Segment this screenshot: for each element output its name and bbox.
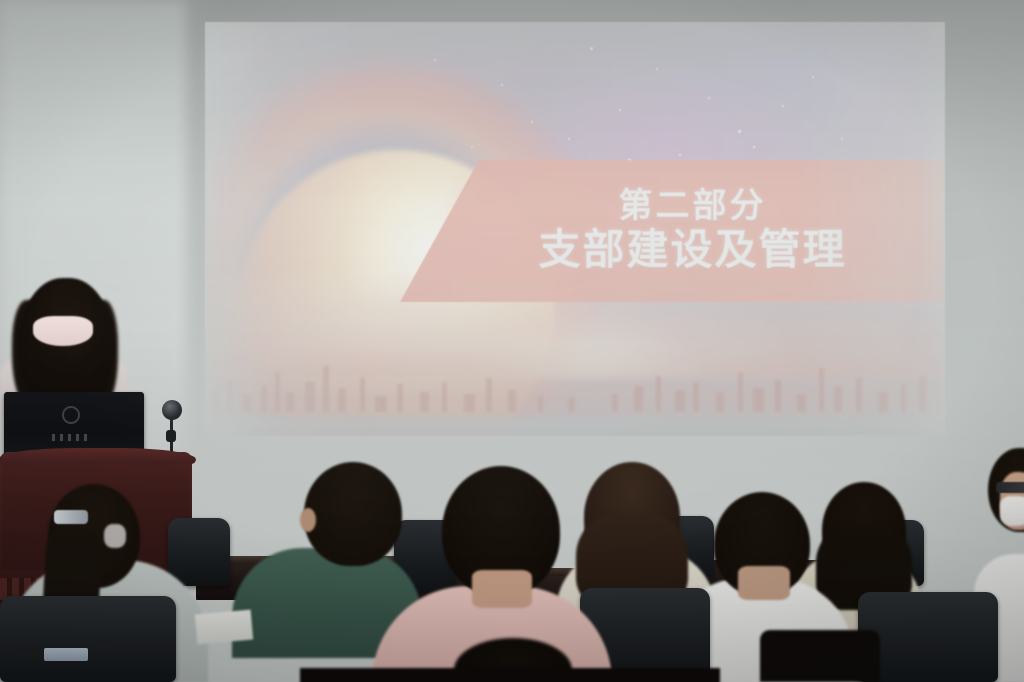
audience-head: [304, 462, 402, 566]
projected-slide: 第二部分 支部建设及管理: [205, 22, 945, 436]
city-skyline-silhouette: [205, 348, 945, 420]
presenter-face-mask: [33, 316, 93, 346]
foreground-dark-bar: [760, 630, 880, 682]
chair: [0, 596, 176, 682]
presentation-photo: 第二部分 支部建设及管理: [0, 0, 1024, 682]
podium-top-edge: [0, 448, 196, 464]
hair-clip-icon: [54, 510, 88, 524]
dell-logo-icon: [62, 406, 80, 424]
microphone-icon: [162, 400, 182, 420]
handout-papers: [195, 610, 253, 645]
foreground-body: [300, 668, 720, 682]
monitor-indicator-lights: [52, 434, 92, 441]
audience-ear: [300, 508, 316, 532]
audience-neck: [472, 570, 532, 608]
eyeglasses-icon: [996, 482, 1024, 493]
audience-neck: [738, 566, 790, 600]
audience-face-mask: [104, 524, 126, 548]
slide-title-line-2: 支部建设及管理: [538, 227, 846, 273]
slide-lower-edge: [205, 416, 945, 436]
face-mask: [1000, 496, 1024, 526]
chair-label: [44, 648, 88, 661]
slide-title-block: 第二部分 支部建设及管理: [400, 160, 945, 302]
microphone-joint: [166, 430, 176, 442]
chair: [168, 518, 230, 586]
slide-title-line-1: 第二部分: [619, 189, 767, 225]
